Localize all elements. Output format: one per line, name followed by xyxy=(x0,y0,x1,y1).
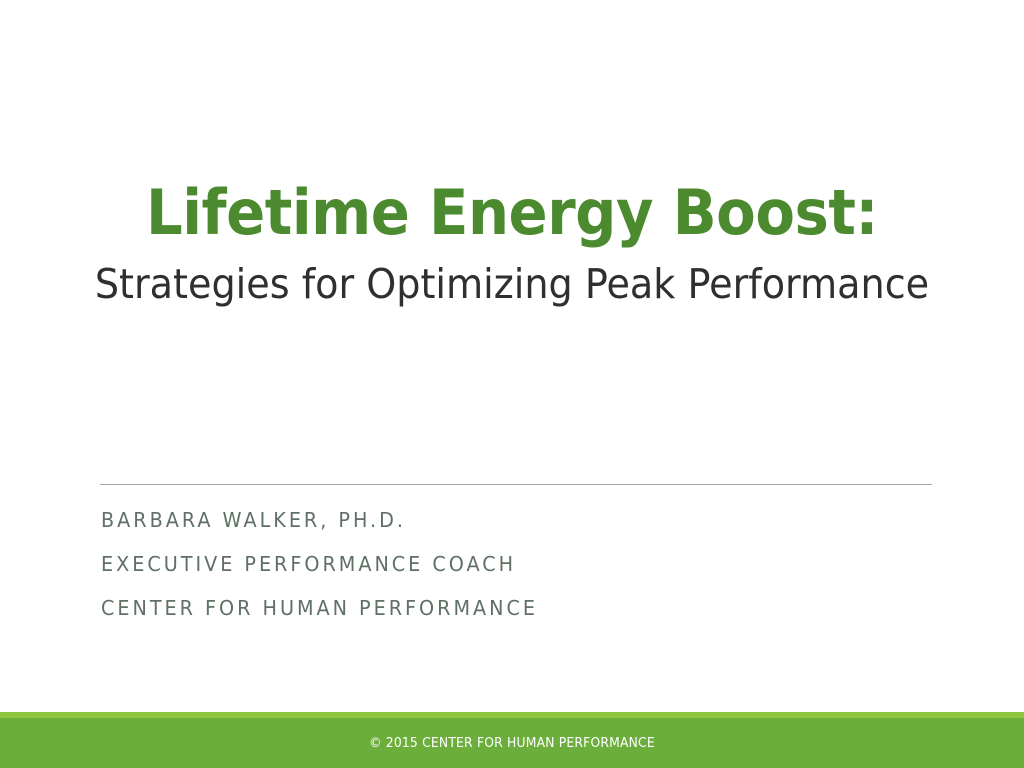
page-title: Lifetime Energy Boost: xyxy=(36,180,988,246)
presenter-title: EXECUTIVE PERFORMANCE COACH xyxy=(101,542,927,586)
divider xyxy=(100,484,932,485)
title-slide: Lifetime Energy Boost: Strategies for Op… xyxy=(0,0,1024,768)
footer-copyright: © 2015 CENTER FOR HUMAN PERFORMANCE xyxy=(26,736,999,751)
presenter-organization: CENTER FOR HUMAN PERFORMANCE xyxy=(101,586,927,630)
presenter-block: BARBARA WALKER, PH.D. EXECUTIVE PERFORMA… xyxy=(101,498,961,630)
presenter-name: BARBARA WALKER, PH.D. xyxy=(101,498,927,542)
title-block: Lifetime Energy Boost: Strategies for Op… xyxy=(0,180,1024,309)
page-subtitle: Strategies for Optimizing Peak Performan… xyxy=(36,260,988,309)
